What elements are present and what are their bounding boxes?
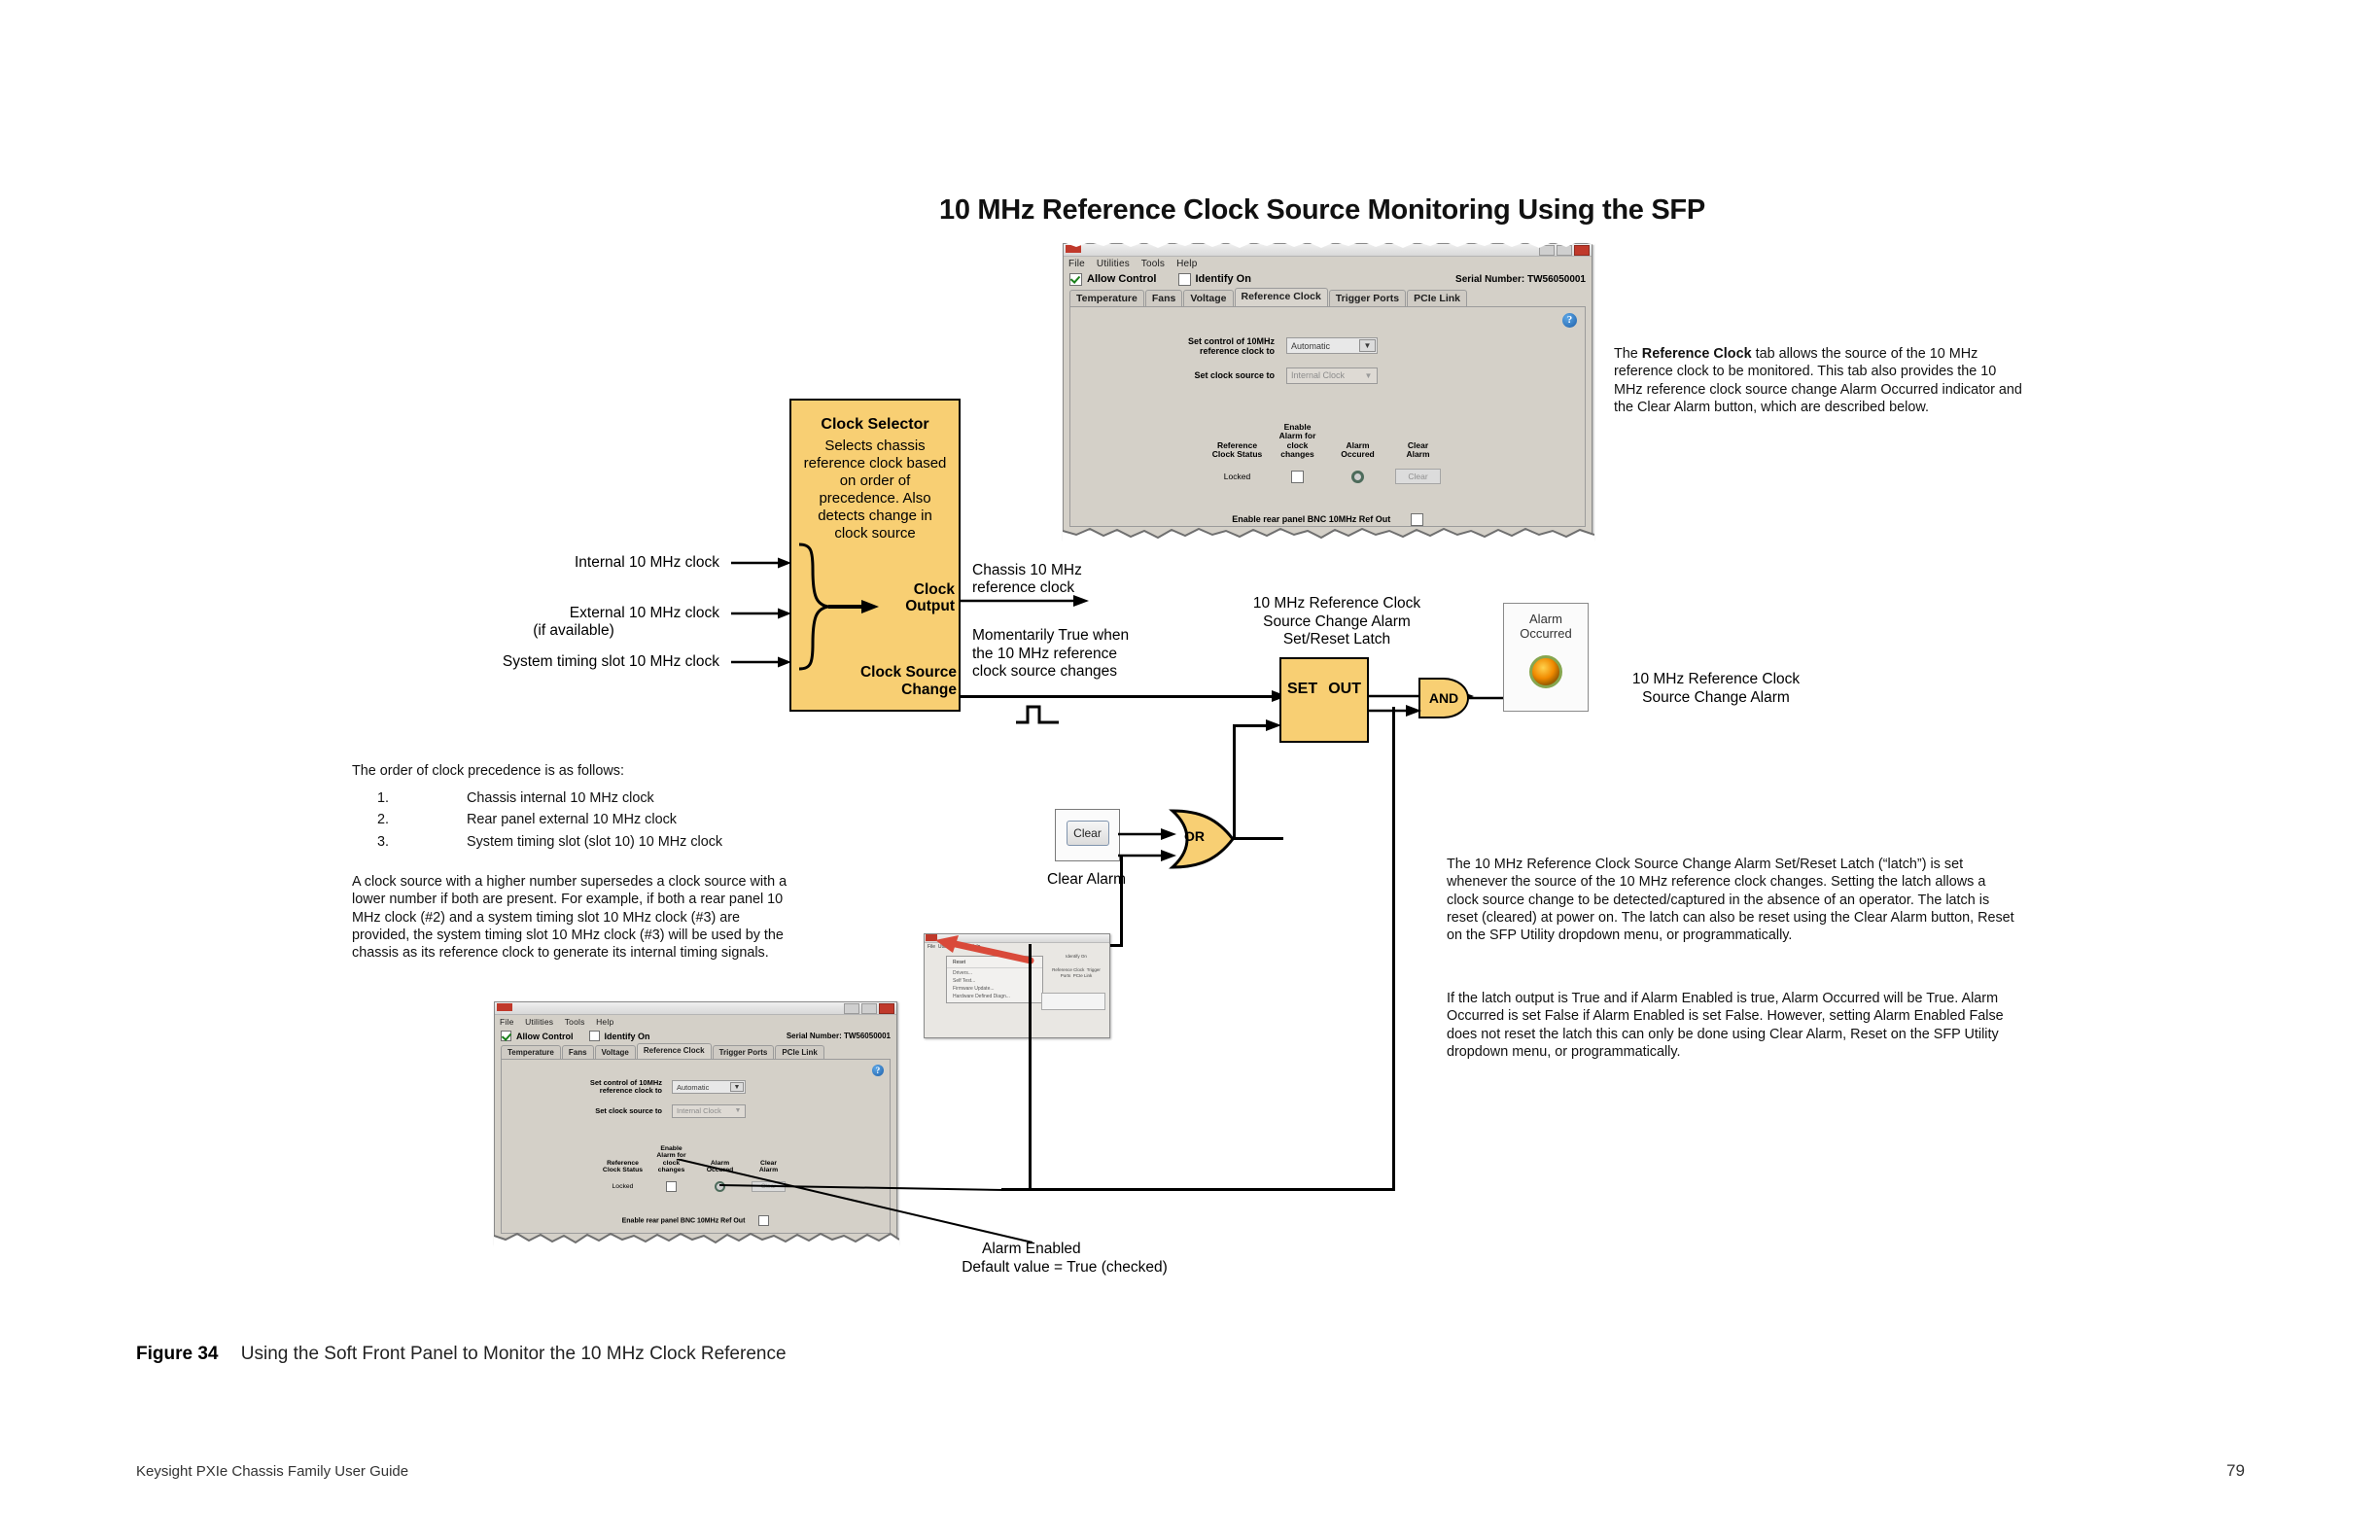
popup-faux-input[interactable] xyxy=(1041,993,1105,1010)
allow-control-label: Allow Control xyxy=(1087,273,1157,285)
set-reset-latch-block: SET OUT xyxy=(1279,657,1369,743)
tab-bar[interactable]: Temperature Fans Voltage Reference Clock… xyxy=(1064,288,1592,306)
input-label-internal-clock: Internal 10 MHz clock xyxy=(467,554,719,572)
figure-caption: Figure 34 Using the Soft Front Panel to … xyxy=(136,1344,787,1365)
tab-pcie-link-bottom[interactable]: PCIe Link xyxy=(775,1045,823,1059)
chassis-clock-label: Chassis 10 MHzreference clock xyxy=(972,562,1082,598)
tab-temperature[interactable]: Temperature xyxy=(1069,290,1144,306)
control-row: Allow Control Identify On Serial Number:… xyxy=(1064,271,1592,288)
tab-trigger-ports[interactable]: Trigger Ports xyxy=(1329,290,1406,306)
precedence-num-1: 1. xyxy=(352,789,414,807)
tab-voltage[interactable]: Voltage xyxy=(1183,290,1233,306)
clock-source-combobox-bottom[interactable]: Internal Clock ▼ xyxy=(672,1104,746,1118)
precedence-item-1: 1. Chassis internal 10 MHz clock xyxy=(352,789,809,807)
alarm-occurred-led xyxy=(1351,471,1364,483)
precedence-text-1: Chassis internal 10 MHz clock xyxy=(467,789,654,807)
alarm-enabled-callout-leader xyxy=(671,1159,1040,1248)
clock-source-value-bottom: Internal Clock xyxy=(677,1106,721,1115)
latch-paragraph-2: If the latch output is True and if Alarm… xyxy=(1447,990,2026,1061)
and-gate: AND xyxy=(1418,678,1469,718)
menu-item-tools-bottom[interactable]: Tools xyxy=(565,1017,585,1027)
bold-reference-clock: Reference Clock xyxy=(1642,346,1752,362)
help-icon[interactable]: ? xyxy=(1562,313,1577,328)
clock-selector-title: Clock Selector xyxy=(791,416,959,434)
figure-caption-text: Using the Soft Front Panel to Monitor th… xyxy=(241,1344,787,1364)
alarm-output-label: 10 MHz Reference ClockSource Change Alar… xyxy=(1594,671,1837,707)
input-label-external-clock: External 10 MHz clock(if available) xyxy=(428,605,719,640)
menu-bar-bottom[interactable]: File Utilities Tools Help xyxy=(495,1015,896,1029)
precedence-list: 1. Chassis internal 10 MHz clock 2. Rear… xyxy=(352,786,809,851)
allow-control-checkbox-bottom[interactable] xyxy=(501,1031,511,1041)
menu-bar[interactable]: File Utilities Tools Help xyxy=(1064,257,1592,271)
momentarily-true-label: Momentarily True whenthe 10 MHz referenc… xyxy=(972,627,1129,682)
tab-bar-bottom[interactable]: Temperature Fans Voltage Reference Clock… xyxy=(495,1043,896,1059)
minimize-icon-bottom[interactable] xyxy=(844,1003,859,1014)
window-titlebar-bottom[interactable] xyxy=(495,1002,896,1015)
chevron-down-icon-bottom2[interactable]: ▼ xyxy=(732,1106,744,1116)
clear-button[interactable]: Clear xyxy=(1067,821,1109,846)
rear-panel-label: Enable rear panel BNC 10MHz Ref Out xyxy=(1232,514,1390,524)
latch-reset-arrow xyxy=(1260,718,1287,734)
maximize-icon-bottom[interactable] xyxy=(861,1003,877,1014)
clock-change-line xyxy=(959,695,1283,698)
input-arrow-system-timing xyxy=(731,655,793,669)
alarm-occurred-panel-title: AlarmOccurred xyxy=(1504,612,1588,642)
enable-alarm-checkbox[interactable] xyxy=(1291,471,1304,483)
tab-trigger-ports-bottom[interactable]: Trigger Ports xyxy=(713,1045,775,1059)
clock-source-label-bottom: Set clock source to xyxy=(502,1107,662,1115)
set-control-value-bottom: Automatic xyxy=(677,1083,709,1092)
input-merge-brace xyxy=(795,541,883,677)
reference-clock-status-value: Locked xyxy=(1207,472,1268,481)
chevron-down-icon[interactable]: ▼ xyxy=(1361,369,1376,382)
clock-source-label: Set clock source to xyxy=(1070,370,1275,380)
window-buttons-bottom[interactable] xyxy=(844,1003,894,1014)
menu-item-file-bottom[interactable]: File xyxy=(500,1017,514,1027)
precedence-text-2: Rear panel external 10 MHz clock xyxy=(467,811,677,828)
menu-item-utilities-bottom[interactable]: Utilities xyxy=(525,1017,553,1027)
alarm-led-indicator xyxy=(1529,655,1562,688)
menu-item-help-bottom[interactable]: Help xyxy=(596,1017,613,1027)
lower-clear-wire-v xyxy=(1029,944,1032,1189)
close-icon-bottom[interactable] xyxy=(879,1003,894,1014)
help-icon-bottom[interactable]: ? xyxy=(872,1065,884,1076)
footer-title: Keysight PXIe Chassis Family User Guide xyxy=(136,1463,408,1480)
alarm-enabled-callout: Alarm EnabledDefault value = True (check… xyxy=(982,1241,1235,1277)
status-header-reference-clock-status: ReferenceClock Status xyxy=(1207,441,1268,460)
allow-control-checkbox[interactable] xyxy=(1069,273,1082,286)
set-control-combobox-bottom[interactable]: Automatic ▼ xyxy=(672,1080,746,1094)
torn-edge-top-window-upper xyxy=(1063,239,1594,253)
identify-on-label-bottom: Identify On xyxy=(605,1032,650,1041)
status-header-clear-alarm: ClearAlarm xyxy=(1388,441,1449,460)
latch-out-label: OUT xyxy=(1328,681,1361,698)
figure-heading: 10 MHz Reference Clock Source Monitoring… xyxy=(939,194,1705,227)
or-output-v xyxy=(1233,724,1236,839)
page-number: 79 xyxy=(2226,1461,2245,1481)
or-output-h xyxy=(1233,837,1283,840)
reference-clock-description: The Reference Clock tab allows the sourc… xyxy=(1614,345,2022,416)
set-control-combobox[interactable]: Automatic ▼ xyxy=(1286,337,1378,354)
input-arrow-internal xyxy=(731,556,793,570)
red-pointer-arrow xyxy=(922,933,1038,966)
document-page: 10 MHz Reference Clock Source Monitoring… xyxy=(0,0,2380,1540)
alarm-occurred-panel: AlarmOccurred xyxy=(1503,603,1589,712)
precedence-item-3: 3. System timing slot (slot 10) 10 MHz c… xyxy=(352,833,809,851)
tab-fans-bottom[interactable]: Fans xyxy=(562,1045,594,1059)
clear-alarm-label: Clear Alarm xyxy=(1026,871,1147,889)
torn-edge-top-window xyxy=(1063,525,1594,546)
window-icon-bottom xyxy=(497,1003,512,1011)
clear-alarm-button[interactable]: Clear xyxy=(1395,469,1440,484)
identify-on-checkbox[interactable] xyxy=(1178,273,1191,286)
status-header-enable-alarm: EnableAlarm forclockchanges xyxy=(1268,423,1328,459)
serial-number-label-bottom: Serial Number: TW56050001 xyxy=(787,1032,891,1040)
tab-voltage-bottom[interactable]: Voltage xyxy=(595,1045,636,1059)
tab-reference-clock[interactable]: Reference Clock xyxy=(1235,288,1328,306)
latch-paragraph-1: The 10 MHz Reference Clock Source Change… xyxy=(1447,856,2020,944)
figure-number: Figure 34 xyxy=(136,1344,218,1364)
latch-title: 10 MHz Reference ClockSource Change Alar… xyxy=(1215,595,1458,649)
status-header-alarm-occured: AlarmOccured xyxy=(1328,441,1388,460)
precedence-text-3: System timing slot (slot 10) 10 MHz cloc… xyxy=(467,833,722,851)
set-control-label-bottom: Set control of 10MHzreference clock to xyxy=(502,1079,662,1096)
clock-source-value: Internal Clock xyxy=(1291,370,1345,380)
latch-set-label: SET xyxy=(1287,681,1317,698)
precedence-num-2: 2. xyxy=(352,811,414,828)
menu-item-file[interactable]: File xyxy=(1068,259,1085,269)
precedence-item-2: 2. Rear panel external 10 MHz clock xyxy=(352,811,809,828)
alarm-occurred-callout-leader xyxy=(719,1181,1011,1195)
identify-on-label: Identify On xyxy=(1196,273,1251,285)
or-lower-input-v xyxy=(1120,856,1123,946)
and-gate-label: AND xyxy=(1429,690,1458,706)
alarm-enabled-wire-v xyxy=(1392,707,1395,1191)
clock-selector-description: Selects chassis reference clock based on… xyxy=(801,437,949,542)
reference-clock-panel: ? Set control of 10MHzreference clock to… xyxy=(1069,306,1586,528)
tab-temperature-bottom[interactable]: Temperature xyxy=(501,1045,561,1059)
control-row-bottom: Allow Control Identify On Serial Number:… xyxy=(495,1029,896,1043)
popup-faux-content: Identify OnReference Clock Trigger Ports… xyxy=(1047,954,1105,980)
precedence-intro: The order of clock precedence is as foll… xyxy=(352,762,809,780)
precedence-num-3: 3. xyxy=(352,833,414,851)
tab-fans[interactable]: Fans xyxy=(1145,290,1183,306)
alarm-enabled-wire-h xyxy=(1001,1188,1395,1191)
clock-output-label: ClockOutput xyxy=(905,581,955,615)
tab-pcie-link[interactable]: PCIe Link xyxy=(1407,290,1467,306)
or-second-input-wire xyxy=(1118,848,1180,863)
sfp-window-top[interactable]: File Utilities Tools Help Allow Control … xyxy=(1063,243,1592,540)
pulse-waveform-icon xyxy=(1014,703,1063,726)
tab-reference-clock-bottom[interactable]: Reference Clock xyxy=(637,1043,712,1059)
set-control-value: Automatic xyxy=(1291,341,1330,351)
menu-item-help[interactable]: Help xyxy=(1176,259,1197,269)
or-gate-label: OR xyxy=(1184,828,1205,844)
set-control-label: Set control of 10MHzreference clock to xyxy=(1070,336,1275,356)
input-arrow-external xyxy=(731,607,793,620)
clear-alarm-group: Clear xyxy=(1055,809,1120,861)
allow-control-label-bottom: Allow Control xyxy=(516,1032,574,1041)
serial-number-label: Serial Number: TW56050001 xyxy=(1455,274,1586,285)
menu-item-utilities[interactable]: Utilities xyxy=(1097,259,1130,269)
chevron-down-icon-bottom[interactable]: ▼ xyxy=(730,1082,744,1092)
precedence-body: A clock source with a higher number supe… xyxy=(352,873,787,962)
and-second-input-wire xyxy=(1367,703,1425,718)
identify-on-checkbox-bottom[interactable] xyxy=(589,1031,600,1041)
input-label-system-timing-slot: System timing slot 10 MHz clock xyxy=(428,653,719,671)
reference-clock-status-value-bottom: Locked xyxy=(599,1183,647,1190)
status-header-reference-clock-status-bottom: ReferenceClock Status xyxy=(599,1160,647,1174)
clock-source-combobox[interactable]: Internal Clock ▼ xyxy=(1286,367,1378,384)
menu-item-tools[interactable]: Tools xyxy=(1141,259,1165,269)
chevron-down-icon[interactable]: ▼ xyxy=(1359,339,1376,352)
